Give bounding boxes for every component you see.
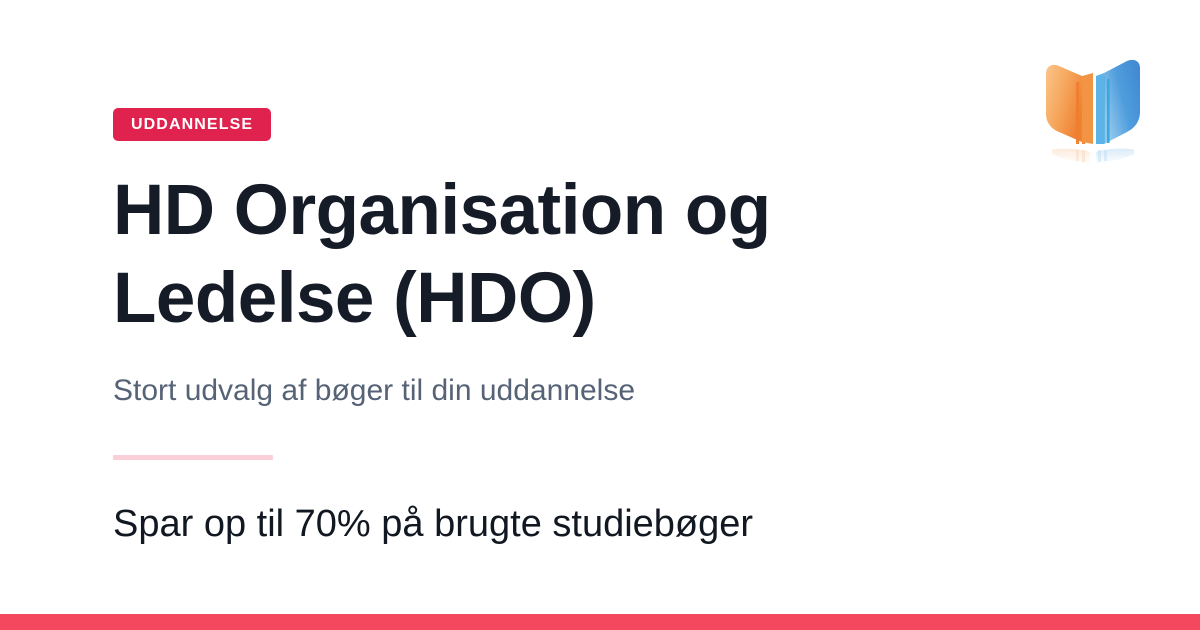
butterfly-book-logo-icon (1038, 52, 1148, 164)
category-badge: UDDANNELSE (113, 108, 271, 141)
og-image-card: UDDANNELSE HD Organisation og Ledelse (H… (0, 0, 1200, 630)
bottom-accent-bar (0, 614, 1200, 630)
section-divider (113, 455, 273, 460)
brand-logo (1038, 52, 1148, 164)
content-column: UDDANNELSE HD Organisation og Ledelse (H… (113, 108, 1020, 547)
promo-tagline: Spar op til 70% på brugte studiebøger (113, 501, 1020, 547)
page-subtitle: Stort udvalg af bøger til din uddannelse (113, 372, 1020, 410)
page-title: HD Organisation og Ledelse (HDO) (113, 167, 973, 343)
